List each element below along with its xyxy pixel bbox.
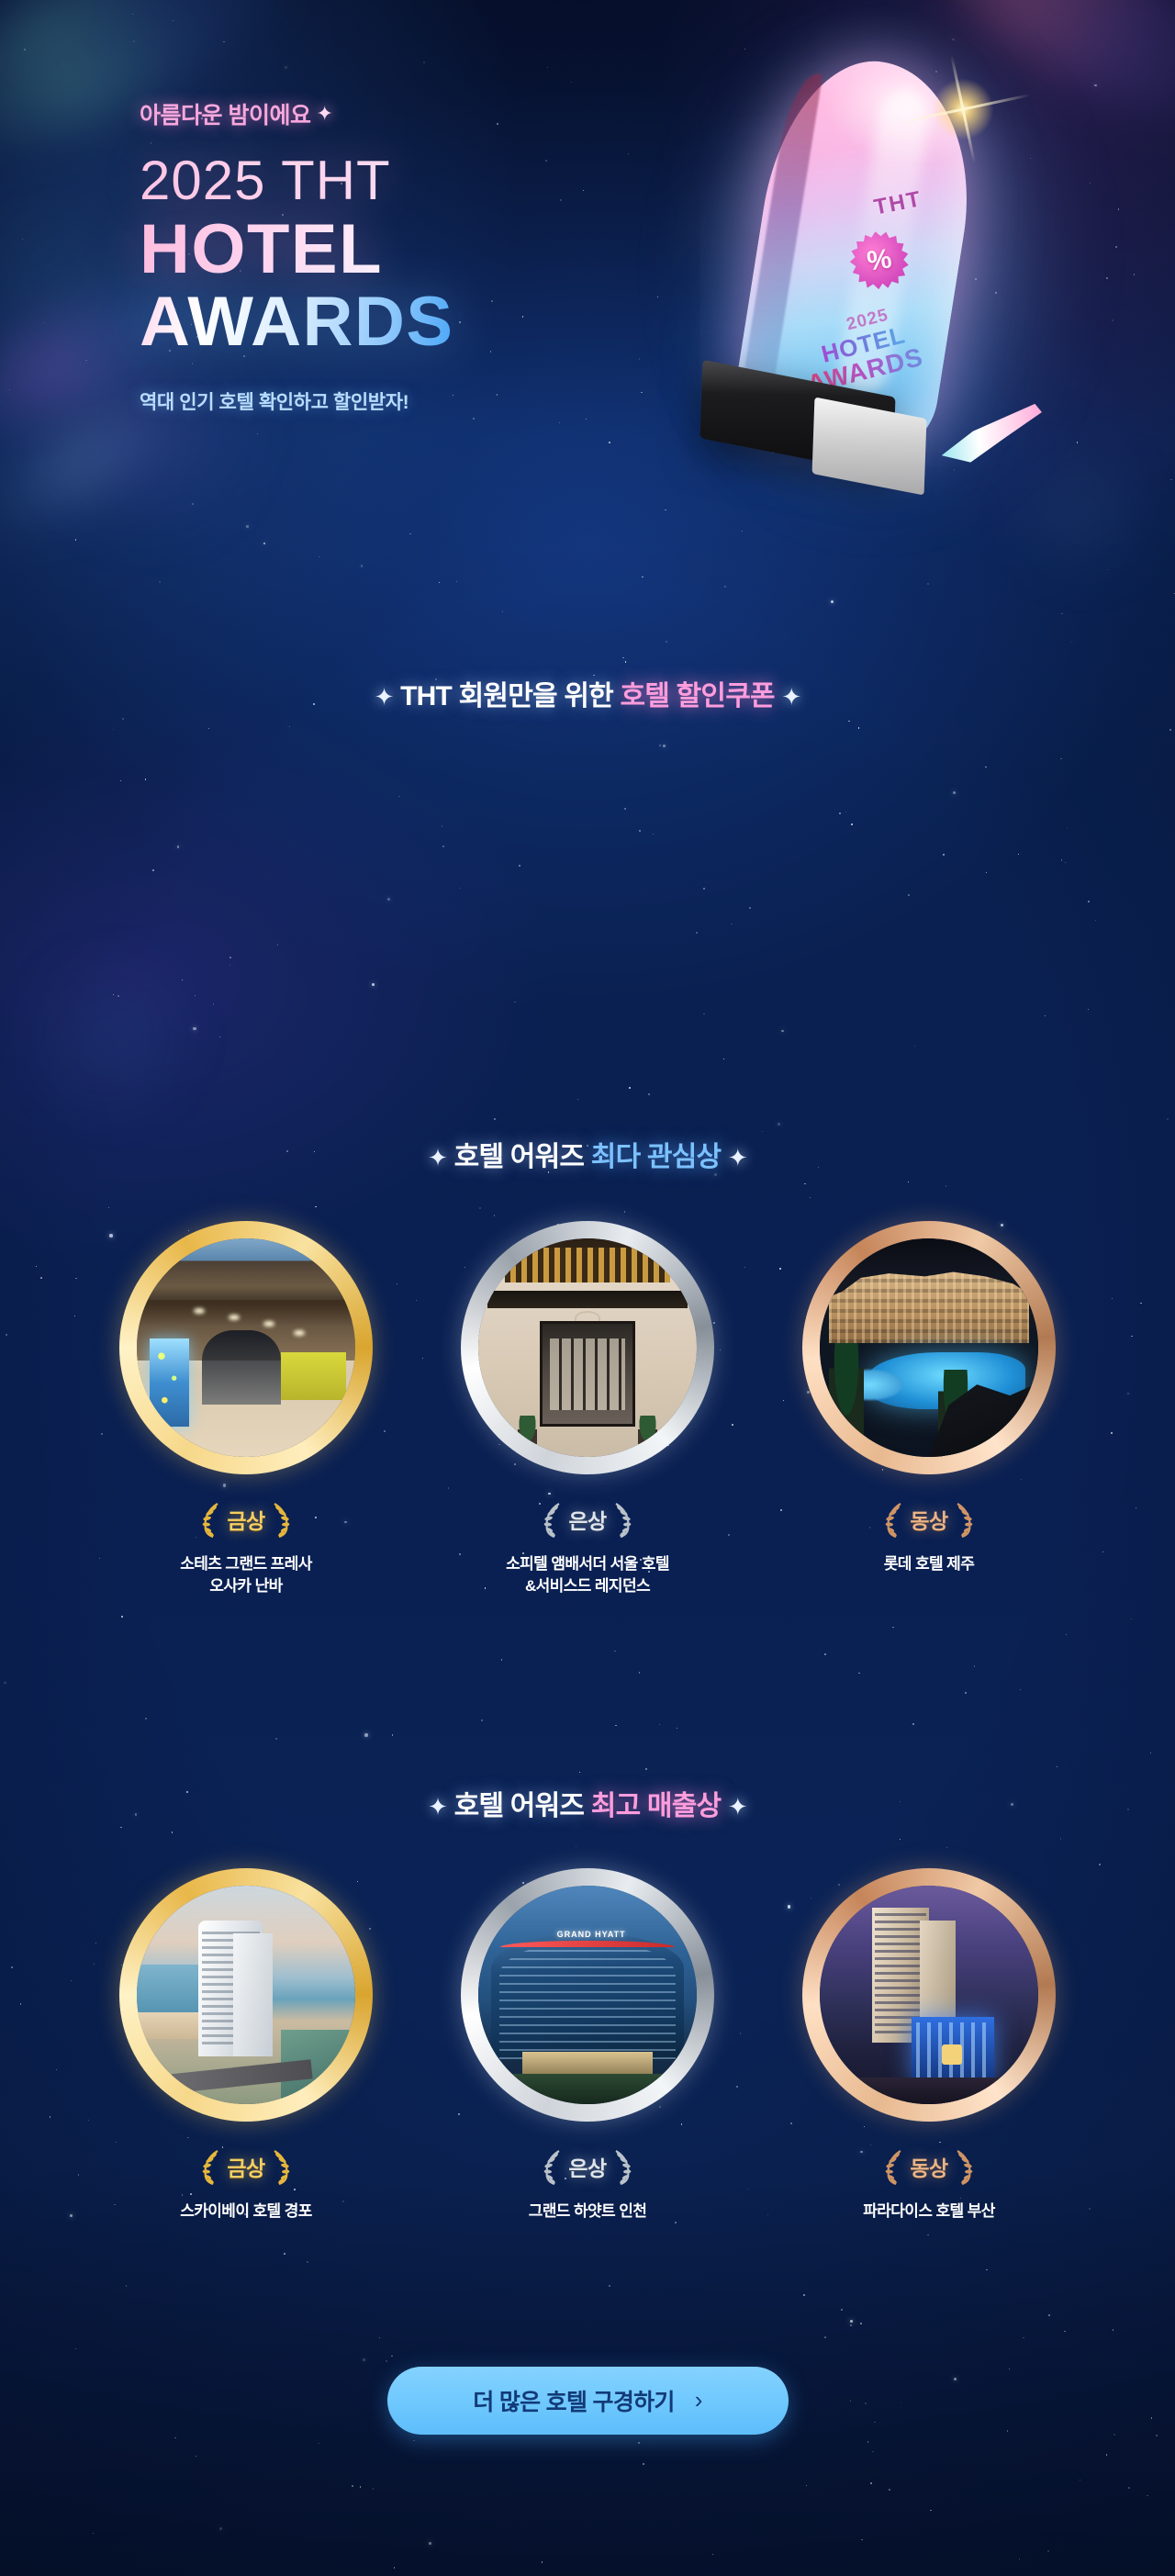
hotel-photo-ring-gold[interactable]	[119, 1868, 373, 2122]
rank-badge-bronze: 동상	[882, 2145, 975, 2188]
rank-badge-bronze: 동상	[882, 1498, 975, 1540]
hotel-name: 파라다이스 호텔 부산	[863, 2201, 995, 2223]
hotel-photo-image-paradise-busan	[820, 1886, 1038, 2104]
rank-label: 동상	[910, 1504, 947, 1535]
laurel-left-icon	[199, 2148, 223, 2185]
rank-label: 은상	[568, 1504, 606, 1535]
hotel-photo: GRAND HYATT	[478, 1886, 697, 2104]
award-row-top-revenue: 금상 스카이베이 호텔 경포 GRAND HYATT	[0, 1868, 1175, 2223]
section-heading-most-interest: ✦ 호텔 어워즈 최다 관심상 ✦	[0, 1134, 1175, 1174]
hotel-building-sign: GRAND HYATT	[557, 1930, 626, 1939]
laurel-left-icon	[541, 1501, 565, 1538]
hotel-photo-image-grand-hyatt-incheon: GRAND HYATT	[478, 1886, 697, 2104]
hero-title-line-3: AWARDS	[140, 286, 454, 358]
hotel-name: 롯데 호텔 제주	[884, 1553, 975, 1575]
award-card[interactable]: 금상 스카이베이 호텔 경포	[119, 1868, 373, 2223]
percent-symbol: %	[846, 228, 912, 294]
sparkle-star-icon	[923, 70, 1002, 149]
award-card[interactable]: 동상 롯데 호텔 제주	[802, 1221, 1056, 1597]
section-heading-white: 호텔 어워즈	[454, 1791, 585, 1821]
hotel-name: 그랜드 하얏트 인천	[529, 2201, 647, 2223]
coupon-heading-white: THT 회원만을 위한	[400, 681, 613, 711]
hotel-photo	[137, 1238, 355, 1457]
sparkle-icon: ✦	[316, 102, 332, 126]
hero-subtitle: 역대 인기 호텔 확인하고 할인받자!	[140, 387, 454, 415]
award-card[interactable]: 금상 소테츠 그랜드 프레사 오사카 난바	[119, 1221, 373, 1597]
rank-label: 은상	[568, 2151, 606, 2182]
hotel-name: 소테츠 그랜드 프레사 오사카 난바	[180, 1553, 312, 1597]
laurel-right-icon	[952, 1501, 976, 1538]
hero-title-line-1: 2025 THT	[140, 154, 454, 208]
sparkle-icon-left: ✦	[428, 1793, 447, 1820]
hotel-photo	[137, 1886, 355, 2104]
laurel-left-icon	[882, 1501, 906, 1538]
laurel-left-icon	[541, 2148, 565, 2185]
award-card[interactable]: GRAND HYATT 은상	[461, 1868, 714, 2223]
section-heading-top-revenue: ✦ 호텔 어워즈 최고 매출상 ✦	[0, 1783, 1175, 1823]
hotel-photo-ring-bronze[interactable]	[802, 1868, 1056, 2122]
coupon-heading-accent: 호텔 할인쿠폰	[621, 681, 775, 711]
hotel-photo-ring-silver[interactable]	[461, 1221, 714, 1474]
award-row-most-interest: 금상 소테츠 그랜드 프레사 오사카 난바	[0, 1221, 1175, 1597]
laurel-right-icon	[269, 1501, 293, 1538]
more-hotels-button[interactable]: 더 많은 호텔 구경하기 ›	[387, 2367, 789, 2435]
laurel-right-icon	[952, 2148, 976, 2185]
rank-badge-silver: 은상	[541, 2145, 633, 2188]
rank-label: 동상	[910, 2151, 947, 2182]
rank-badge-silver: 은상	[541, 1498, 633, 1540]
rank-badge-gold: 금상	[199, 1498, 292, 1540]
hotel-photo-image-lotte-jeju-pool	[820, 1238, 1038, 1457]
cta-container: 더 많은 호텔 구경하기 ›	[0, 2367, 1175, 2435]
hotel-photo-image-sofitel-entrance	[478, 1238, 697, 1457]
hero-title-line-2: HOTEL	[140, 214, 454, 286]
laurel-right-icon	[610, 1501, 634, 1538]
rank-label: 금상	[227, 1504, 264, 1535]
hero-copy-block: 아름다운 밤이에요 ✦ 2025 THT HOTEL AWARDS 역대 인기 …	[140, 97, 454, 415]
section-heading-white: 호텔 어워즈	[454, 1142, 585, 1172]
sparkle-icon-left: ✦	[428, 1144, 447, 1171]
rank-label: 금상	[227, 2151, 264, 2182]
laurel-right-icon	[269, 2148, 293, 2185]
hotel-name: 소피텔 앰배서더 서울 호텔 &서비스드 레지던스	[506, 1553, 669, 1597]
section-heading-accent: 최다 관심상	[591, 1142, 722, 1172]
hero-eyebrow: 아름다운 밤이에요 ✦	[140, 97, 454, 130]
sparkle-icon-right: ✦	[781, 683, 800, 711]
hotel-photo	[820, 1886, 1038, 2104]
laurel-left-icon	[199, 1501, 223, 1538]
coupon-section-heading: ✦ THT 회원만을 위한 호텔 할인쿠폰 ✦	[0, 673, 1175, 713]
section-heading-accent: 최고 매출상	[591, 1791, 722, 1821]
sparkle-icon-right: ✦	[728, 1144, 747, 1171]
more-hotels-button-label: 더 많은 호텔 구경하기	[473, 2384, 674, 2417]
laurel-right-icon	[610, 2148, 634, 2185]
hotel-photo-ring-silver[interactable]: GRAND HYATT	[461, 1868, 714, 2122]
hotel-photo-image-sotetsu-lobby	[137, 1238, 355, 1457]
sparkle-icon-left: ✦	[375, 683, 394, 711]
hero-banner: 아름다운 밤이에요 ✦ 2025 THT HOTEL AWARDS 역대 인기 …	[0, 0, 1175, 633]
award-card[interactable]: 동상 파라다이스 호텔 부산	[802, 1868, 1056, 2223]
sparkle-icon-right: ✦	[728, 1793, 747, 1820]
laurel-left-icon	[882, 2148, 906, 2185]
chevron-right-icon: ›	[695, 2388, 702, 2412]
rank-badge-gold: 금상	[199, 2145, 292, 2188]
hotel-photo-image-skybay-gyeongpo	[137, 1886, 355, 2104]
hotel-photo	[820, 1238, 1038, 1457]
hotel-photo-ring-bronze[interactable]	[802, 1221, 1056, 1474]
award-card[interactable]: 은상 소피텔 앰배서더 서울 호텔 &서비스드 레지던스	[461, 1221, 714, 1597]
hero-eyebrow-text: 아름다운 밤이에요	[140, 97, 310, 130]
hotel-photo-ring-gold[interactable]	[119, 1221, 373, 1474]
trophy-illustration: THT % 2025 HOTEL AWARDS	[679, 37, 1074, 606]
hotel-photo	[478, 1238, 697, 1457]
hotel-name: 스카이베이 호텔 경포	[180, 2201, 312, 2223]
